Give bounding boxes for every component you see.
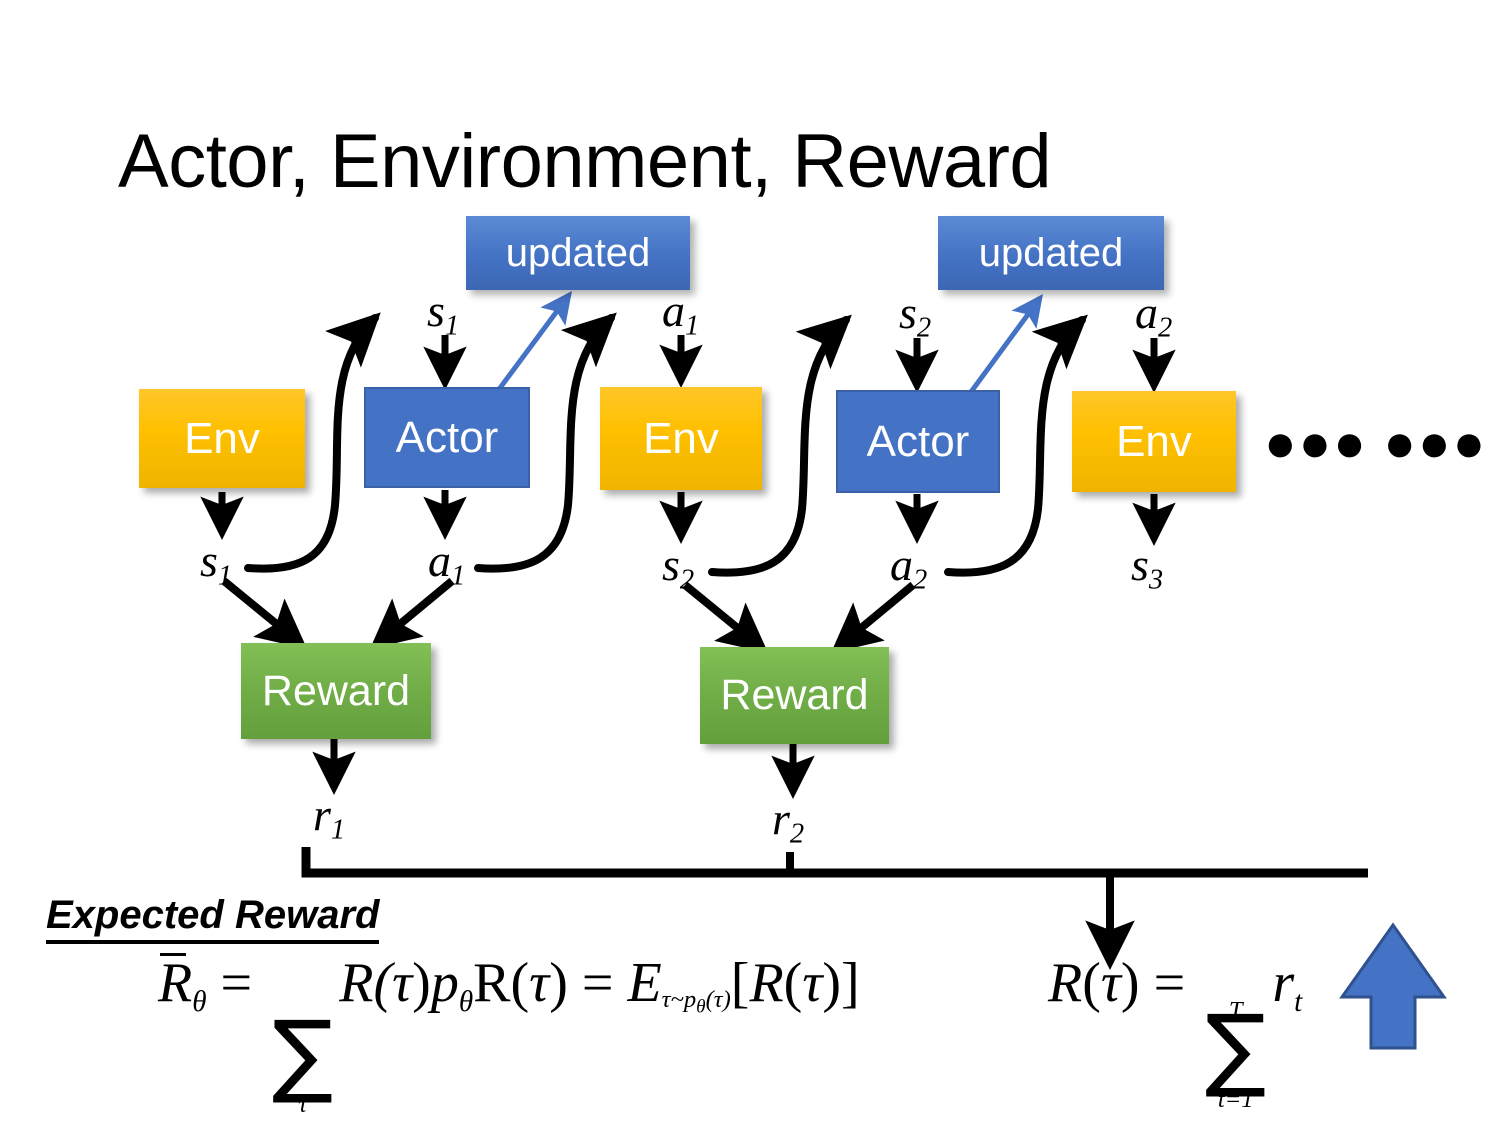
label-a2-bottom-base: a [890, 539, 913, 590]
label-s2-top-base: s [899, 287, 917, 338]
req-R: R [1048, 952, 1082, 1014]
reward-timeline-bracket [306, 847, 1368, 873]
expected-reward-equation: Rθ = ∑ τ R(τ)pθR(τ) = Eτ~pθ(τ)[R(τ)] [158, 955, 860, 1118]
env-box-3: Env [1072, 391, 1236, 492]
label-a2-top-sub: 2 [1158, 313, 1172, 344]
label-s1-top-sub: 1 [445, 311, 459, 342]
label-a2-bottom-sub: 2 [913, 565, 927, 596]
req-r-sub: t [1294, 986, 1302, 1018]
eq-equals-2: = [582, 952, 614, 1014]
env-box-3-label: Env [1116, 417, 1192, 467]
eq-p-tau: τ [529, 952, 549, 1014]
updated-box-1: updated [466, 216, 690, 290]
updated-box-2: updated [938, 216, 1164, 290]
actor-box-1-label: Actor [396, 413, 499, 463]
eq-p-open: R( [473, 952, 529, 1014]
actor-box-2: Actor [836, 390, 1000, 493]
req-close: ) [1121, 952, 1140, 1014]
label-s2-bottom-sub: 2 [680, 565, 694, 596]
eq-inner-open: ( [784, 952, 803, 1014]
label-r1-base: r [313, 789, 331, 840]
req-sigma-glyph: ∑ [1205, 1012, 1266, 1086]
eq-inner-close: ) [822, 952, 841, 1014]
updated-arrow-2 [968, 298, 1040, 396]
slide-canvas: Actor, Environment, Reward updated updat… [0, 0, 1500, 1125]
eq-E-sub-tilde: ~ [670, 986, 683, 1013]
eq-bracket-open: [ [731, 952, 750, 1014]
label-s1-bottom-sub: 1 [218, 561, 232, 592]
eq-sigma-tau: ∑ τ [272, 1004, 333, 1118]
label-a1-top-base: a [662, 285, 685, 336]
eq-p: p [431, 952, 459, 1014]
label-s2-bottom-base: s [662, 539, 680, 590]
env-box-2-label: Env [643, 414, 719, 464]
req-r: r [1272, 952, 1294, 1014]
eq-sigma-glyph: ∑ [272, 1018, 333, 1092]
expected-reward-heading: Expected Reward [46, 893, 379, 944]
eq-inner-R: R [749, 952, 783, 1014]
label-s2-top: s2 [899, 290, 931, 343]
label-r2-sub: 2 [790, 819, 804, 850]
blue-up-arrow [1342, 925, 1444, 1048]
label-s1-bottom: s1 [200, 538, 232, 591]
reward-box-2: Reward [700, 647, 889, 744]
label-s1-top: s1 [427, 288, 459, 341]
reward-box-1-label: Reward [262, 667, 410, 716]
label-a2-top: a2 [1135, 290, 1172, 343]
label-r1: r1 [313, 792, 345, 845]
label-s2-top-sub: 2 [917, 313, 931, 344]
return-equation: R(τ) = T ∑ t=1 rt [1048, 955, 1302, 1112]
eq-E-subscript: τ~pθ(τ) [662, 986, 731, 1013]
label-a1-top: a1 [662, 288, 699, 341]
label-a1-bottom-sub: 1 [451, 561, 465, 592]
eq-E: E [627, 952, 661, 1014]
label-s3-bottom-sub: 3 [1149, 565, 1163, 596]
eq-p-theta: θ [459, 986, 473, 1018]
req-sigma-lower-limit: t=1 [1218, 1088, 1254, 1113]
ellipsis-dots: ●●● ●●● [1264, 412, 1487, 474]
eq-E-sub-tau2: τ [714, 986, 723, 1013]
updated-box-1-label: updated [506, 231, 651, 276]
env-box-1: Env [139, 389, 305, 488]
label-r1-sub: 1 [331, 815, 345, 846]
eq-E-sub-close: ) [723, 986, 731, 1013]
eq-p-close: ) [549, 952, 568, 1014]
actor-box-1: Actor [364, 387, 530, 488]
eq-equals-1: = [221, 952, 253, 1014]
req-open: ( [1082, 952, 1101, 1014]
eq-R-close: ) [412, 952, 431, 1014]
label-s1-top-base: s [427, 285, 445, 336]
eq-R-open: R( [339, 952, 392, 1014]
label-s2-bottom: s2 [662, 542, 694, 595]
actor-box-2-label: Actor [867, 417, 970, 467]
label-s3-bottom: s3 [1131, 542, 1163, 595]
label-s1-bottom-base: s [200, 535, 218, 586]
label-a1-top-sub: 1 [685, 311, 699, 342]
reward-box-2-label: Reward [720, 671, 868, 720]
arrow-s2-to-reward2 [685, 585, 762, 648]
label-r2-base: r [772, 793, 790, 844]
label-a2-top-base: a [1135, 287, 1158, 338]
page-title: Actor, Environment, Reward [118, 118, 1051, 205]
req-sigma: T ∑ t=1 [1205, 999, 1266, 1113]
eq-E-sub-p: p [684, 986, 696, 1013]
eq-E-sub-theta: θ [696, 997, 705, 1018]
label-a2-bottom: a2 [890, 542, 927, 595]
arrow-s1-to-reward1 [224, 581, 301, 644]
eq-inner-tau: τ [802, 952, 822, 1014]
req-tau: τ [1101, 952, 1121, 1014]
updated-box-2-label: updated [979, 231, 1124, 276]
label-s3-bottom-base: s [1131, 539, 1149, 590]
req-equals: = [1154, 952, 1186, 1014]
eq-bracket-close: ] [841, 952, 860, 1014]
eq-R-tau: τ [392, 952, 412, 1014]
eq-E-sub-open: ( [706, 986, 714, 1013]
eq-Rbar-theta: θ [192, 986, 206, 1018]
eq-sigma-bottom-tau: τ [298, 1093, 307, 1118]
env-box-1-label: Env [184, 414, 260, 464]
label-a1-bottom: a1 [428, 538, 465, 591]
env-box-2: Env [600, 387, 762, 490]
label-a1-bottom-base: a [428, 535, 451, 586]
reward-box-1: Reward [241, 643, 431, 739]
label-r2: r2 [772, 796, 804, 849]
eq-Rbar: R [158, 955, 192, 1011]
updated-arrow-1 [497, 295, 569, 392]
